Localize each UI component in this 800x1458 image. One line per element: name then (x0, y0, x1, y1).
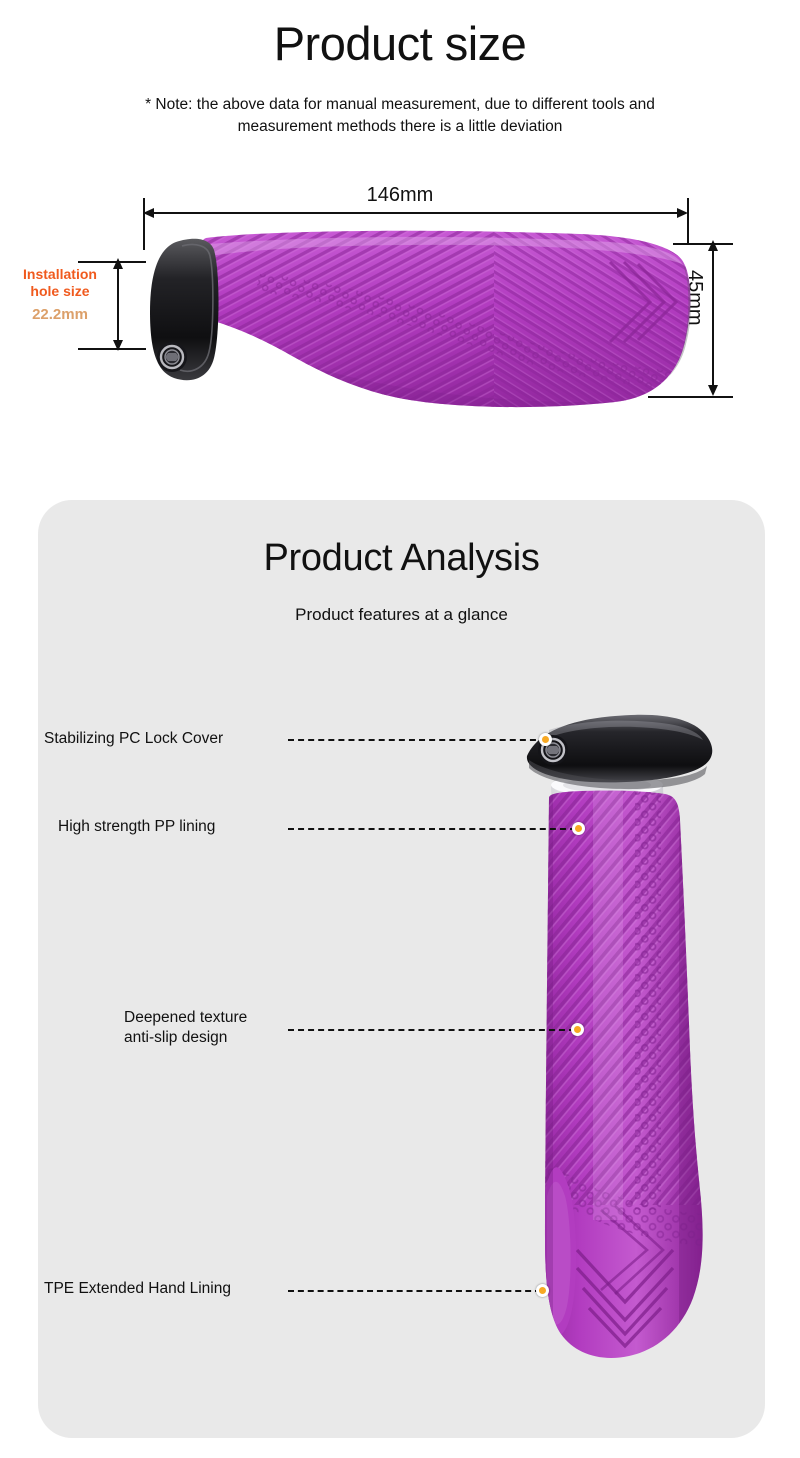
feature-label-2: High strength PP lining (58, 817, 215, 837)
feature-leader-line-2 (288, 828, 576, 830)
arrow-head-right-icon (677, 208, 688, 218)
measurement-note: * Note: the above data for manual measur… (100, 94, 700, 138)
height-arrow-line (712, 248, 714, 392)
grip-vertical-illustration (497, 690, 727, 1420)
analysis-subtitle: Product features at a glance (38, 605, 765, 625)
feature-dot-4 (536, 1284, 549, 1297)
arrow-head-left-icon (143, 208, 154, 218)
feature-dot-2 (572, 822, 585, 835)
analysis-title: Product Analysis (38, 537, 765, 580)
feature-leader-line-1 (288, 739, 546, 741)
install-hole-value: 22.2mm (8, 306, 112, 323)
length-arrow-line (147, 212, 685, 214)
infographic-page: Product size * Note: the above data for … (0, 0, 800, 1458)
feature-dot-3 (571, 1023, 584, 1036)
length-dimension-label: 146mm (0, 184, 800, 207)
page-title: Product size (0, 16, 800, 71)
feature-label-4: TPE Extended Hand Lining (44, 1279, 231, 1299)
install-hole-label: Installation hole size (8, 266, 112, 300)
feature-dot-1 (539, 733, 552, 746)
feature-leader-line-3 (288, 1029, 575, 1031)
feature-label-3: Deepened texture anti-slip design (124, 1008, 247, 1048)
grip-horizontal-illustration (110, 222, 710, 412)
feature-leader-line-4 (288, 1290, 541, 1292)
feature-label-1: Stabilizing PC Lock Cover (44, 729, 223, 749)
